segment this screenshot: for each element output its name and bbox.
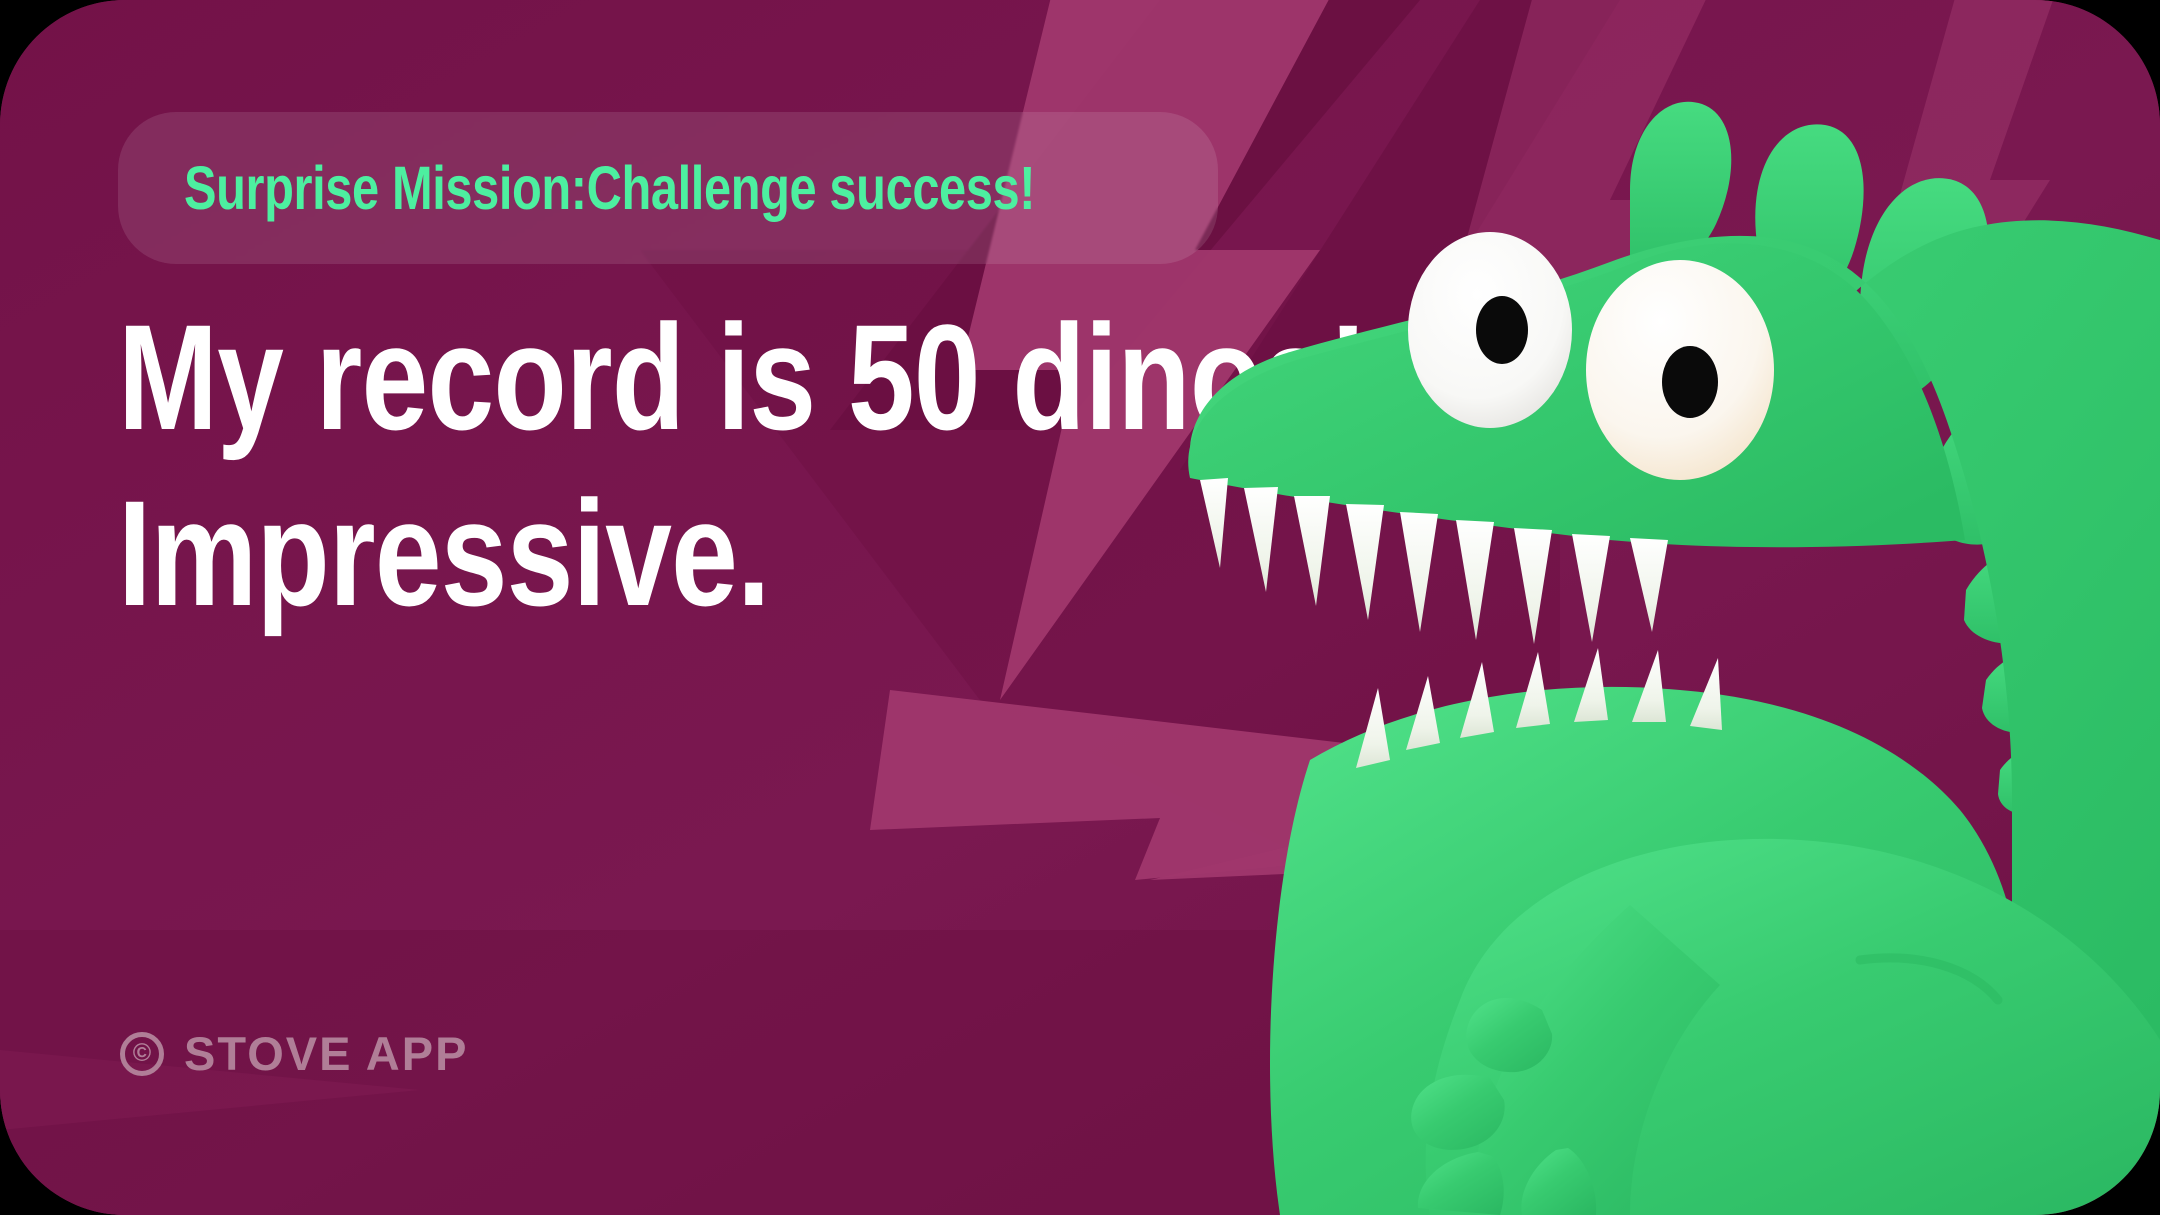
dinosaur-eye-right (1586, 260, 1774, 480)
tooth-l5 (1574, 648, 1608, 722)
mission-badge: Surprise Mission:Challenge success! (118, 112, 1218, 264)
eye-left-pupil (1476, 296, 1528, 364)
eye-right-pupil (1662, 346, 1718, 418)
headline-line-2: Impressive. (118, 466, 1158, 642)
tooth-u3 (1294, 496, 1330, 606)
tooth-u6 (1456, 520, 1494, 640)
tooth-u4 (1346, 504, 1384, 620)
dinosaur-claw-1 (1466, 998, 1552, 1072)
tooth-u2 (1244, 487, 1278, 592)
tooth-u7 (1514, 528, 1552, 644)
watermark-label: STOVE APP (184, 1030, 468, 1077)
tooth-u5 (1400, 512, 1438, 632)
tooth-u1 (1200, 478, 1228, 568)
dinosaur-svg (1160, 0, 2160, 1215)
mission-badge-label: Surprise Mission:Challenge success! (184, 158, 1035, 219)
promo-card: Surprise Mission:Challenge success! My r… (0, 0, 2160, 1215)
dinosaur-eye-left (1408, 232, 1572, 428)
copyright-icon: © (120, 1032, 164, 1076)
tooth-u8 (1572, 534, 1610, 642)
dinosaur-character (1160, 0, 2160, 1215)
tooth-l6 (1632, 650, 1666, 722)
headline-line-1: My record is 50 dinos! (118, 290, 1158, 466)
tooth-u9 (1630, 538, 1668, 632)
watermark: © STOVE APP (120, 1030, 468, 1077)
